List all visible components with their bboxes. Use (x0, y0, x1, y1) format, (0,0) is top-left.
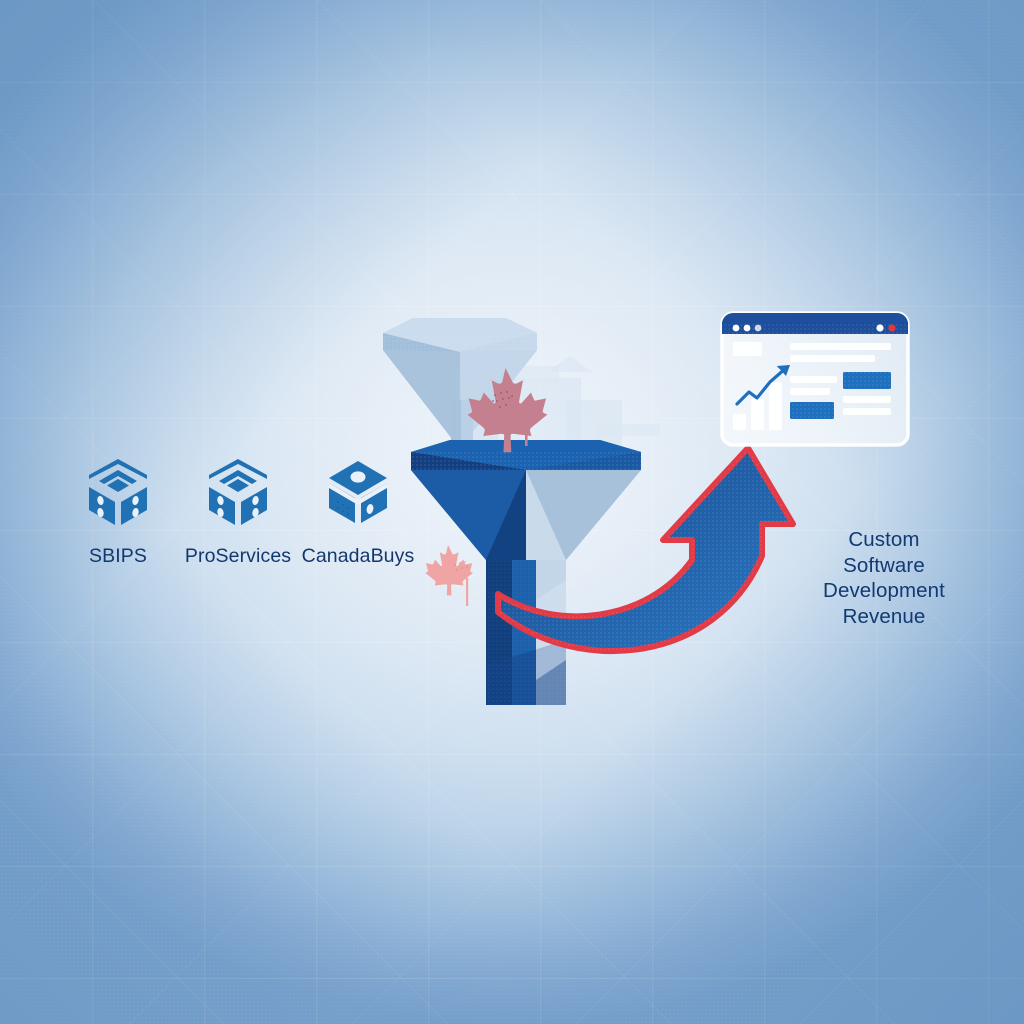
window-dot-close (888, 324, 895, 331)
text-line-1 (790, 343, 891, 350)
source-label-sbips: SBIPS (89, 545, 147, 568)
analytics-dashboard-window (722, 313, 908, 445)
text-line-4 (843, 396, 891, 403)
text-line-5 (843, 408, 891, 415)
caption-line-3: Development (784, 578, 984, 604)
window-titlebar (722, 313, 908, 334)
source-label-proservices: ProServices (185, 545, 291, 568)
text-line-2 (790, 355, 875, 362)
source-item-proservices[interactable]: ProServices (178, 455, 298, 568)
cube-building-icon (205, 455, 271, 529)
source-label-canadabuys: CanadaBuys (302, 545, 415, 568)
caption-line-1: Custom (784, 527, 984, 553)
caption-line-4: Revenue (784, 604, 984, 630)
infographic-canvas: SBIPS ProServices (0, 0, 1024, 1024)
cube-box-icon (325, 455, 391, 529)
source-channels: SBIPS ProServices (58, 455, 418, 568)
window-dot-1 (733, 325, 740, 332)
cube-building-icon (85, 455, 151, 529)
panel-thumb (733, 342, 762, 356)
revenue-caption: Custom Software Development Revenue (784, 527, 984, 629)
text-line-3b (790, 388, 830, 395)
maple-leaf-lower (425, 545, 473, 606)
window-dot-min (876, 324, 883, 331)
window-dot-2 (744, 325, 751, 332)
source-item-sbips[interactable]: SBIPS (58, 455, 178, 568)
caption-line-2: Software (784, 553, 984, 579)
text-line-3 (790, 376, 837, 383)
source-item-canadabuys[interactable]: CanadaBuys (298, 455, 418, 568)
window-dot-3 (755, 325, 762, 332)
